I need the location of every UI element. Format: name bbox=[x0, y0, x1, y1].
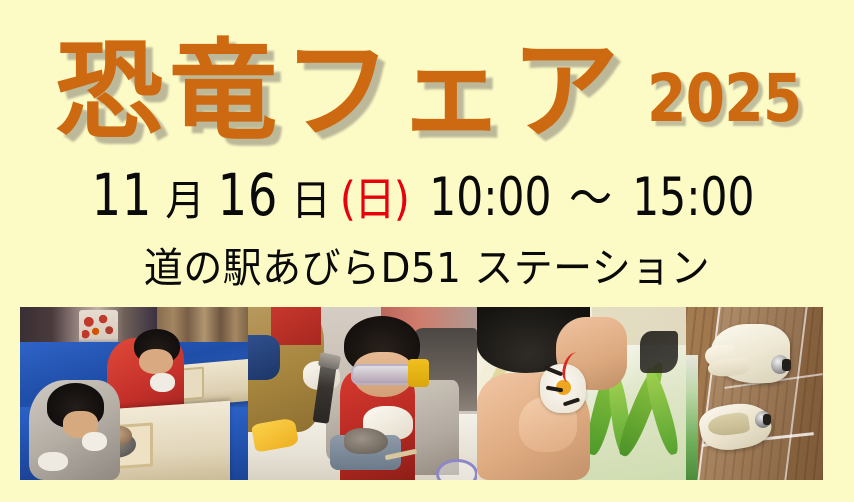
clip-dark-detail-1 bbox=[782, 359, 792, 371]
floral-shirt-pattern bbox=[82, 314, 116, 342]
photo-fossil-dig-scene bbox=[20, 307, 248, 480]
title-main-text: 恐竜フェア bbox=[27, 38, 625, 146]
event-date-line: 11 月 16 日 (日) 10:00 〜 15:00 bbox=[0, 166, 854, 230]
photo-fossil-cleaning-scene bbox=[248, 307, 477, 480]
event-month-unit: 月 bbox=[165, 180, 204, 222]
purple-ring-object bbox=[436, 459, 477, 480]
event-weekday: (日) bbox=[339, 176, 407, 222]
photo-strip bbox=[20, 307, 823, 480]
photo-replica-painting bbox=[477, 307, 686, 480]
goggle-strap bbox=[408, 359, 429, 387]
adult-red-apron bbox=[271, 307, 321, 345]
event-poster: 恐竜フェア 2025 11 月 16 日 (日) 10:00 〜 15:00 道… bbox=[0, 0, 854, 502]
event-start-time: 10:00 bbox=[429, 171, 551, 224]
dark-shape bbox=[640, 331, 678, 373]
event-venue-line: 道の駅あびらD51 ステーション bbox=[0, 240, 854, 296]
photo-fossil-cleaning bbox=[248, 307, 477, 480]
photo-skull-display-scene bbox=[686, 307, 823, 480]
child-gray-glove bbox=[82, 432, 107, 451]
child-gray-glove-2 bbox=[38, 452, 68, 471]
fossil-specimen bbox=[344, 428, 388, 454]
child-red-face bbox=[139, 349, 173, 375]
child-red-glove bbox=[150, 373, 175, 392]
photo-fossil-dig bbox=[20, 307, 248, 480]
event-end-time: 15:00 bbox=[633, 171, 755, 224]
event-day-unit: 日 bbox=[291, 180, 330, 222]
poster-title: 恐竜フェア 2025 bbox=[0, 6, 854, 146]
event-month-number: 11 bbox=[92, 166, 153, 224]
clip-dark-detail-2 bbox=[763, 414, 771, 424]
event-venue-name: 道の駅あびらD51 ステーション bbox=[144, 248, 710, 289]
event-day-number: 16 bbox=[217, 166, 278, 224]
background-blue-bag bbox=[248, 335, 280, 380]
photo-skull-display bbox=[686, 307, 823, 480]
event-time-separator: 〜 bbox=[569, 174, 612, 223]
title-year-text: 2025 bbox=[647, 66, 802, 132]
green-object-edge bbox=[686, 355, 698, 480]
photo-replica-painting-scene bbox=[477, 307, 686, 480]
